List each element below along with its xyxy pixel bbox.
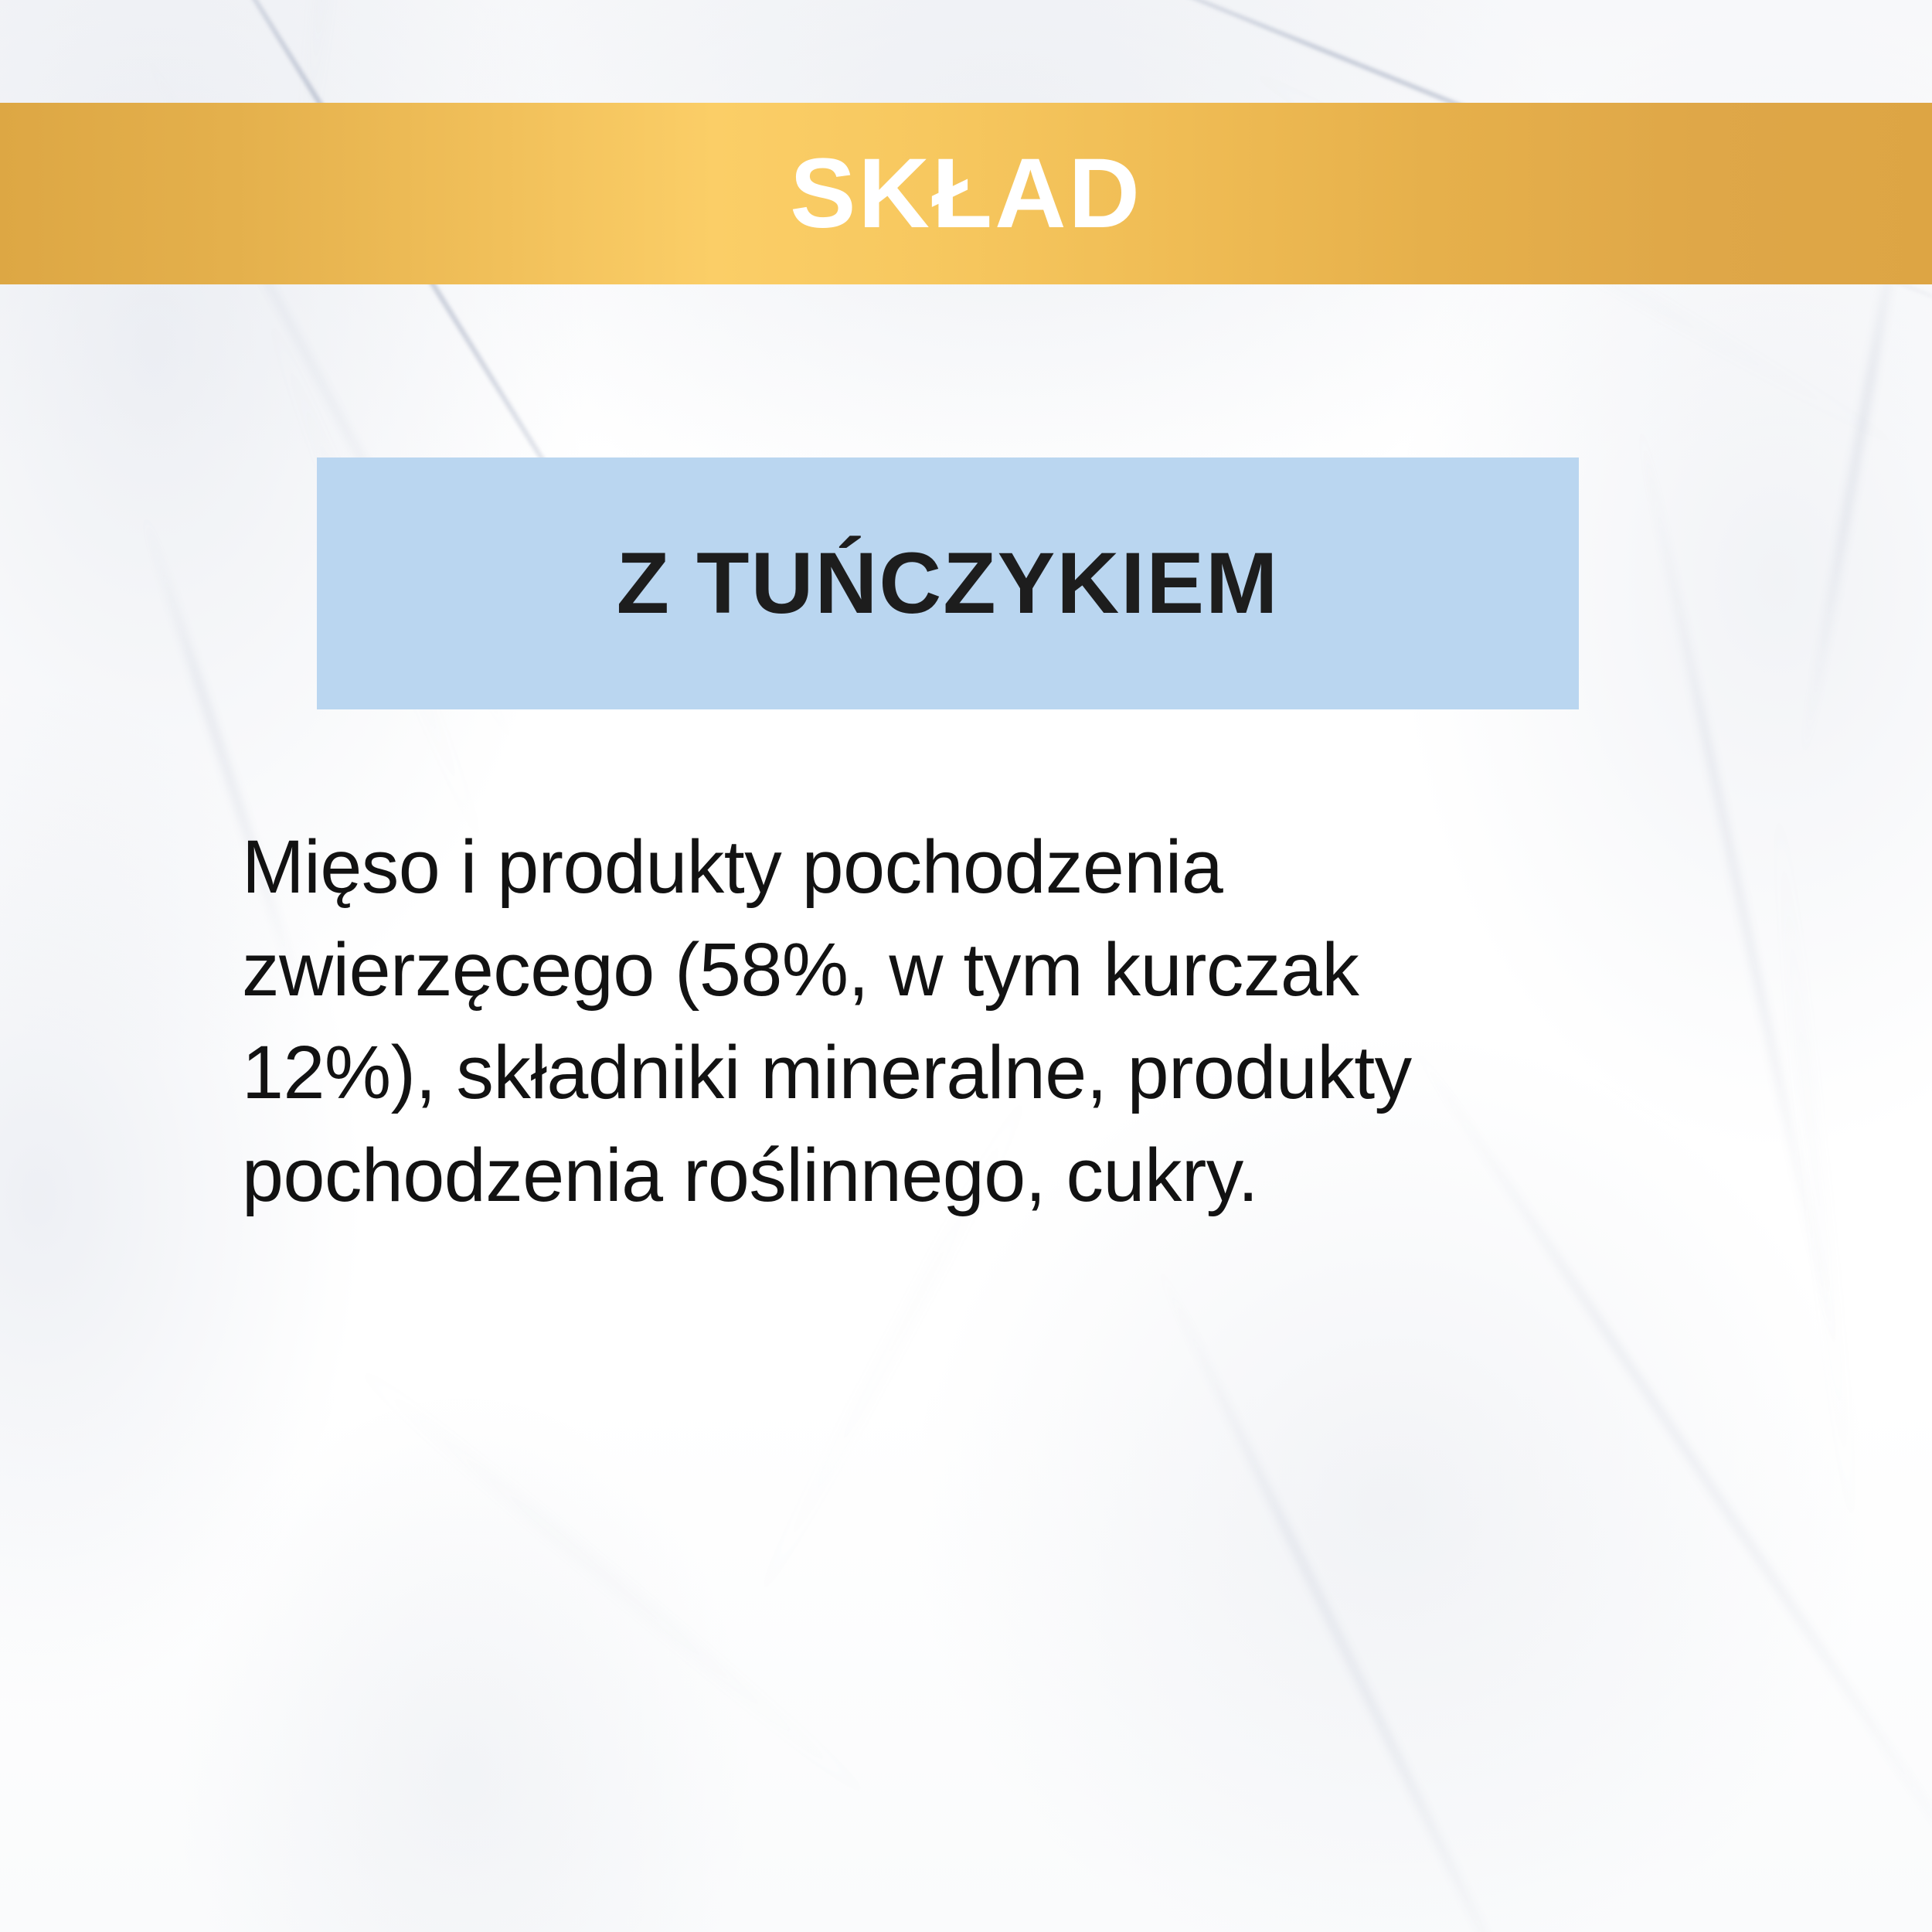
ingredients-line: 12%), składniki mineralne, produkty — [242, 1021, 1795, 1124]
ingredients-infographic-page: SKŁAD Z TUŃCZYKIEM Mięso i produkty poch… — [0, 0, 1932, 1932]
marble-vein — [321, 1336, 916, 1836]
ingredients-line: Mięso i produkty pochodzenia — [242, 815, 1795, 918]
header-banner: SKŁAD — [0, 103, 1932, 284]
ingredients-paragraph: Mięso i produkty pochodzenia zwierzęcego… — [242, 815, 1795, 1226]
variant-label: Z TUŃCZYKIEM — [617, 540, 1280, 627]
ingredients-line: zwierzęcego (58%, w tym kurczak — [242, 918, 1795, 1021]
ingredients-line: pochodzenia roślinnego, cukry. — [242, 1124, 1795, 1226]
page-title: SKŁAD — [790, 145, 1142, 243]
marble-vein — [1146, 1247, 1559, 1932]
variant-badge: Z TUŃCZYKIEM — [317, 457, 1579, 709]
